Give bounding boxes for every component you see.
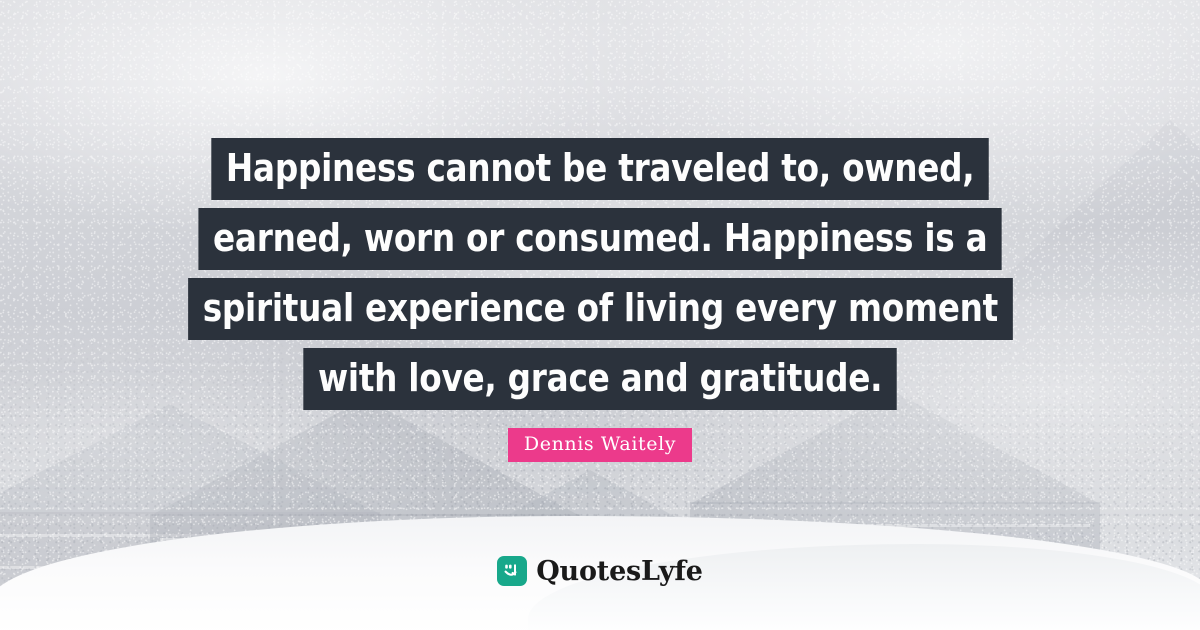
quote-block: Happiness cannot be traveled to, owned, … xyxy=(0,138,1200,410)
quote-line-2: earned, worn or consumed. Happiness is a xyxy=(198,208,1002,270)
author-name-badge: Dennis Waitely xyxy=(508,428,692,462)
quote-smiley-icon xyxy=(497,556,527,586)
quote-card: Happiness cannot be traveled to, owned, … xyxy=(0,0,1200,630)
site-logo[interactable]: QuotesLyfe xyxy=(0,556,1200,586)
quote-line-4: with love, grace and gratitude. xyxy=(303,348,897,410)
author-badge-wrap: Dennis Waitely xyxy=(0,428,1200,462)
quote-line-1: Happiness cannot be traveled to, owned, xyxy=(211,138,989,200)
site-logo-wordmark: QuotesLyfe xyxy=(536,558,703,585)
quote-line-3: spiritual experience of living every mom… xyxy=(188,278,1013,340)
